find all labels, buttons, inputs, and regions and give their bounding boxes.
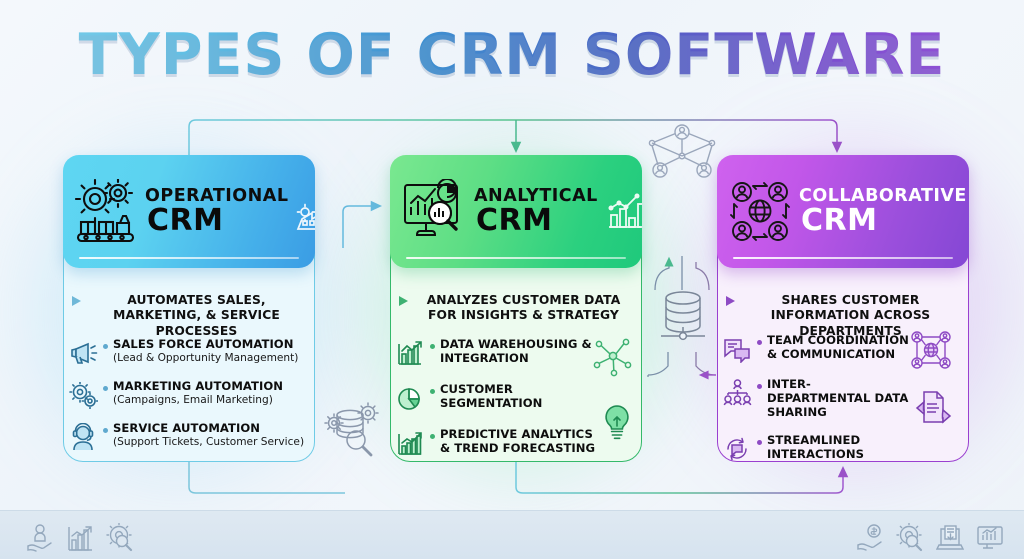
monitor-analytics-icon <box>976 523 1004 553</box>
people-network-icon <box>646 118 718 195</box>
hand-money-icon <box>856 523 884 553</box>
bullet-title: SALES FORCE AUTOMATION <box>113 338 311 352</box>
list-item[interactable]: STREAMLINED INTERACTIONS <box>722 434 912 464</box>
lead-text: ANALYZES CUSTOMER DATA FOR INSIGHTS & ST… <box>414 293 633 324</box>
dot-bullet-icon <box>430 344 435 349</box>
refresh-chat-icon <box>722 434 752 464</box>
factory-icon <box>294 191 315 233</box>
bullet-title: DATA WAREHOUSING & INTEGRATION <box>440 338 605 366</box>
org-chart-icon <box>722 378 752 408</box>
list-item[interactable]: INTER-DEPARTMENTAL DATA SHARING <box>722 378 912 420</box>
page-title: TYPES OF CRM SOFTWARE <box>0 27 1024 84</box>
gear-magnifier-icon <box>896 523 924 553</box>
chat-bubbles-icon <box>722 334 752 364</box>
bullet-title: MARKETING AUTOMATION <box>113 380 311 394</box>
bullet-title: CUSTOMER SEGMENTATION <box>440 383 605 411</box>
bullet-title: TEAM COORDINATION & COMMUNICATION <box>767 334 912 362</box>
list-item[interactable]: PREDICTIVE ANALYTICS & TREND FORECASTING <box>395 428 605 458</box>
dot-bullet-icon <box>103 386 108 391</box>
list-item[interactable]: CUSTOMER SEGMENTATION <box>395 383 605 413</box>
handshake-person-icon <box>26 523 54 553</box>
card-collaborative-header[interactable]: COLLABORATIVE CRM <box>717 155 969 268</box>
dot-bullet-icon <box>430 389 435 394</box>
dot-bullet-icon <box>757 384 762 389</box>
header-rule <box>406 257 626 259</box>
triangle-bullet-icon <box>726 296 735 306</box>
dot-bullet-icon <box>757 340 762 345</box>
gear-magnifier-icon <box>106 523 134 553</box>
list-item[interactable]: SALES FORCE AUTOMATION (Lead & Opportuni… <box>68 338 311 368</box>
database-search-gears-icon <box>320 398 386 465</box>
card-analytical-crm: CRM <box>476 205 552 237</box>
support-agent-icon <box>68 422 98 452</box>
network-nodes-icon <box>592 335 634 382</box>
triangle-bullet-icon <box>399 296 408 306</box>
card-collaborative-bullets: TEAM COORDINATION & COMMUNICATION INTER-… <box>722 334 912 464</box>
dot-bullet-icon <box>757 440 762 445</box>
card-operational-crm: CRM <box>147 205 223 237</box>
people-network-small-icon <box>910 330 954 377</box>
dot-bullet-icon <box>103 428 108 433</box>
laptop-document-icon <box>936 523 964 553</box>
lead-text: AUTOMATES SALES, MARKETING, & SERVICE PR… <box>87 293 306 339</box>
database-cylinder-icon <box>655 288 711 359</box>
bar-chart-up-icon <box>395 338 425 368</box>
card-analytical-header[interactable]: ANALYTICAL CRM <box>390 155 642 268</box>
footer-left-icons <box>26 523 134 553</box>
lightbulb-icon <box>600 402 634 447</box>
card-operational-bullets: SALES FORCE AUTOMATION (Lead & Opportuni… <box>68 338 311 452</box>
pie-chart-icon <box>395 383 425 413</box>
monitor-chart-magnifier-icon <box>402 179 468 245</box>
footer-right-icons <box>856 523 1004 553</box>
megaphone-icon <box>68 338 98 368</box>
bullet-title: INTER-DEPARTMENTAL DATA SHARING <box>767 378 912 420</box>
header-rule <box>733 257 953 259</box>
document-share-icon <box>912 388 954 433</box>
bullet-sub: (Campaigns, Email Marketing) <box>113 394 311 407</box>
bullet-title: PREDICTIVE ANALYTICS & TREND FORECASTING <box>440 428 605 456</box>
list-item[interactable]: DATA WAREHOUSING & INTEGRATION <box>395 338 605 368</box>
card-analytical-lead: ANALYZES CUSTOMER DATA FOR INSIGHTS & ST… <box>399 293 633 324</box>
card-analytical-bullets: DATA WAREHOUSING & INTEGRATION CUSTOMER … <box>395 338 605 458</box>
bar-chart-growth-icon <box>66 523 94 553</box>
header-rule <box>79 257 299 259</box>
list-item[interactable]: TEAM COORDINATION & COMMUNICATION <box>722 334 912 364</box>
infographic-canvas: TYPES OF CRM SOFTWARE TYPES OF CRM SOFTW… <box>0 0 1024 559</box>
dot-bullet-icon <box>103 344 108 349</box>
people-globe-network-icon <box>729 180 793 244</box>
bullet-sub: (Support Tickets, Customer Service) <box>113 436 311 449</box>
gears-conveyor-icon <box>75 179 139 245</box>
card-collaborative-crm: CRM <box>801 205 877 237</box>
dot-bullet-icon <box>430 434 435 439</box>
list-item[interactable]: SERVICE AUTOMATION (Support Tickets, Cus… <box>68 422 311 452</box>
gears-icon <box>68 380 98 410</box>
forecast-chart-icon <box>395 428 425 458</box>
list-item[interactable]: MARKETING AUTOMATION (Campaigns, Email M… <box>68 380 311 410</box>
bullet-title: STREAMLINED INTERACTIONS <box>767 434 912 462</box>
bullet-sub: (Lead & Opportunity Management) <box>113 352 311 365</box>
bullet-title: SERVICE AUTOMATION <box>113 422 311 436</box>
triangle-bullet-icon <box>72 296 81 306</box>
card-operational-lead: AUTOMATES SALES, MARKETING, & SERVICE PR… <box>72 293 306 339</box>
card-operational-header[interactable]: OPERATIONAL CRM <box>63 155 315 268</box>
bar-chart-trend-icon <box>604 191 642 233</box>
